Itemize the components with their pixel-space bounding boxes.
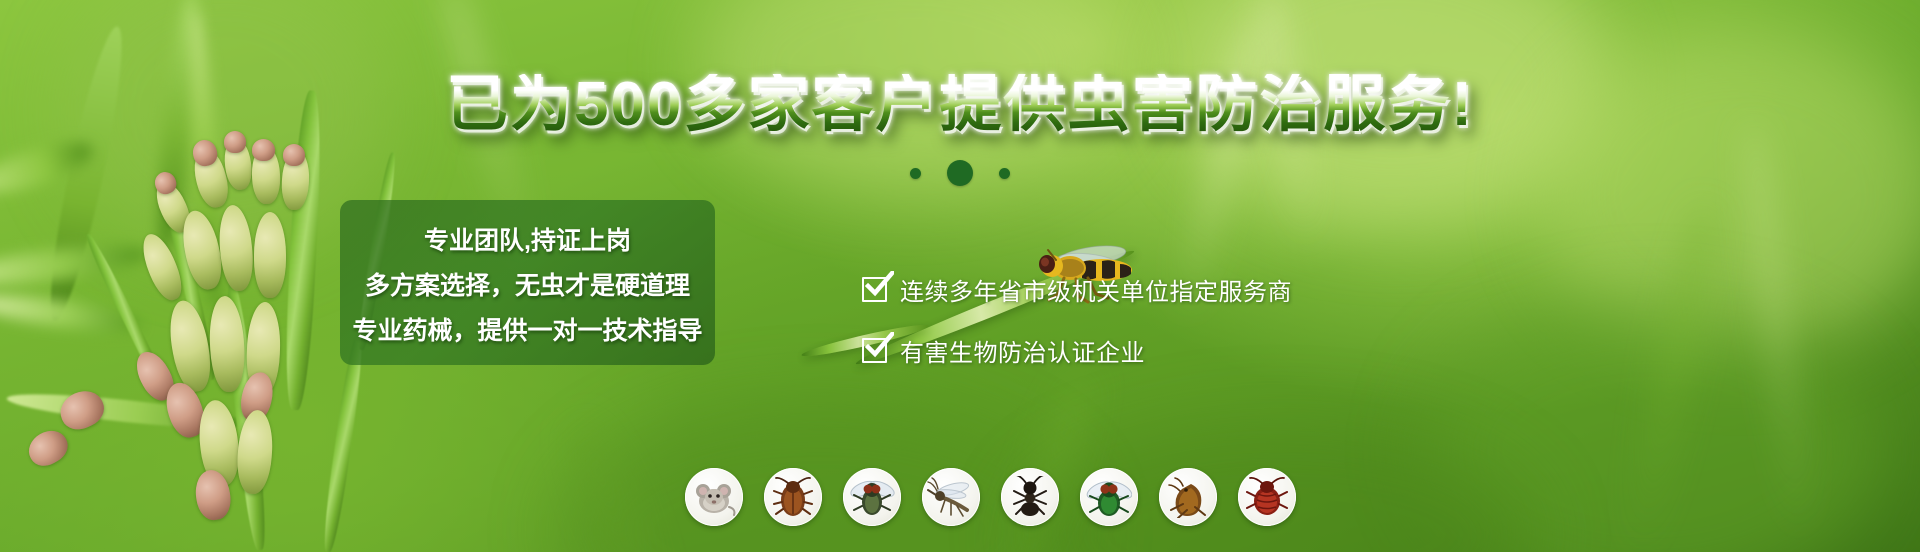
checkbox-check-icon <box>862 277 887 302</box>
pest-control-hero-banner: 已为500多家客户提供虫害防治服务! 已为500多家客户提供虫害防治服务! 专业… <box>0 0 1920 552</box>
feature-line-2: 多方案选择，无虫才是硬道理 <box>365 266 690 302</box>
credential-bullet-2: 有害生物防治认证企业 <box>862 333 1292 368</box>
dot-large-center <box>947 160 973 186</box>
mosquito-icon[interactable] <box>922 468 980 526</box>
feature-line-1: 专业团队,持证上岗 <box>424 221 631 257</box>
page-title: 已为500多家客户提供虫害防治服务! <box>0 74 1920 136</box>
pest-type-icon-row <box>685 468 1296 526</box>
bedbug-icon[interactable] <box>1238 468 1296 526</box>
feature-panel: 专业团队,持证上岗 多方案选择，无虫才是硬道理 专业药械，提供一对一技术指导 <box>340 200 715 365</box>
credential-text-2: 有害生物防治认证企业 <box>900 333 1145 368</box>
credential-text-1: 连续多年省市级机关单位指定服务商 <box>900 272 1292 307</box>
credential-bullet-list: 连续多年省市级机关单位指定服务商 有害生物防治认证企业 <box>862 272 1292 368</box>
mouse-icon[interactable] <box>685 468 743 526</box>
dot-small-left <box>910 168 921 179</box>
dot-small-right <box>999 168 1010 179</box>
checkbox-check-icon <box>862 338 887 363</box>
decorative-dot-group <box>0 160 1920 186</box>
credential-bullet-1: 连续多年省市级机关单位指定服务商 <box>862 272 1292 307</box>
cockroach-icon[interactable] <box>764 468 822 526</box>
fly-icon[interactable] <box>843 468 901 526</box>
feature-line-3: 专业药械，提供一对一技术指导 <box>352 311 702 347</box>
flea-icon[interactable] <box>1159 468 1217 526</box>
blowfly-icon[interactable] <box>1080 468 1138 526</box>
ant-icon[interactable] <box>1001 468 1059 526</box>
